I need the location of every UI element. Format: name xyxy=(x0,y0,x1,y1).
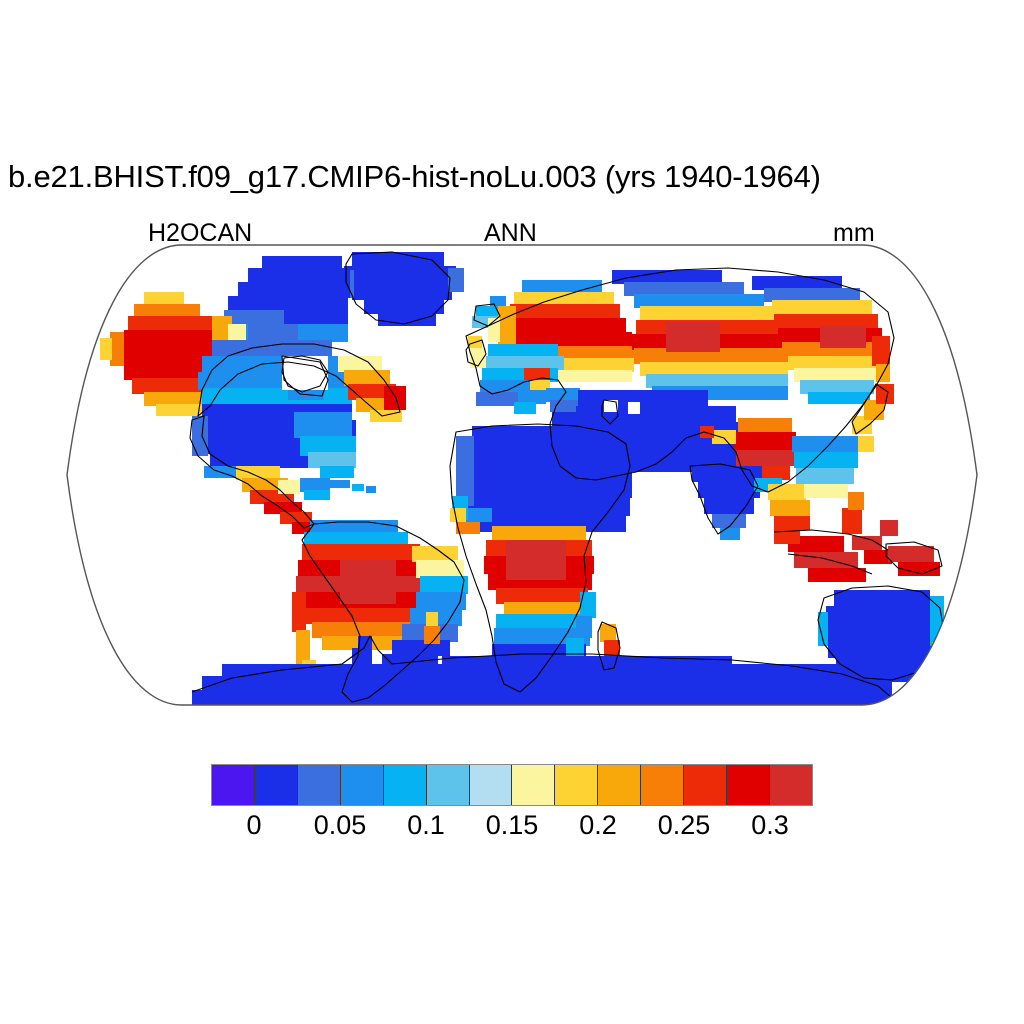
colorbar-tick-0.3: 0.3 xyxy=(751,808,789,842)
colorbar-tick-0.25: 0.25 xyxy=(658,808,711,842)
colorbar-tick-0.05: 0.05 xyxy=(314,808,367,842)
colorbar-cell-8 xyxy=(555,765,598,805)
colorbar-cell-6 xyxy=(470,765,513,805)
colorbar-tick-0: 0 xyxy=(246,808,261,842)
colorbar-cell-2 xyxy=(298,765,341,805)
page-title: b.e21.BHIST.f09_g17.CMIP6-hist-noLu.003 … xyxy=(8,158,1018,196)
colorbar-cell-4 xyxy=(384,765,427,805)
colorbar-cell-1 xyxy=(255,765,298,805)
colorbar-cell-11 xyxy=(684,765,727,805)
colorbar-cell-3 xyxy=(341,765,384,805)
colorbar-tick-0.15: 0.15 xyxy=(486,808,539,842)
map-svg xyxy=(52,240,992,710)
colorbar-strip xyxy=(211,764,813,806)
colorbar-cell-12 xyxy=(727,765,770,805)
figure-canvas: b.e21.BHIST.f09_g17.CMIP6-hist-noLu.003 … xyxy=(0,0,1024,1024)
colorbar-cell-5 xyxy=(427,765,470,805)
world-map xyxy=(52,240,992,710)
colorbar-cell-7 xyxy=(512,765,555,805)
colorbar xyxy=(211,764,813,806)
colorbar-tick-labels: 00.050.10.150.20.250.3 xyxy=(211,808,813,844)
colorbar-tick-0.2: 0.2 xyxy=(579,808,617,842)
colorbar-cell-10 xyxy=(641,765,684,805)
colorbar-tick-0.1: 0.1 xyxy=(407,808,445,842)
colorbar-cell-9 xyxy=(598,765,641,805)
colorbar-cell-0 xyxy=(212,765,255,805)
colorbar-cell-13 xyxy=(770,765,812,805)
